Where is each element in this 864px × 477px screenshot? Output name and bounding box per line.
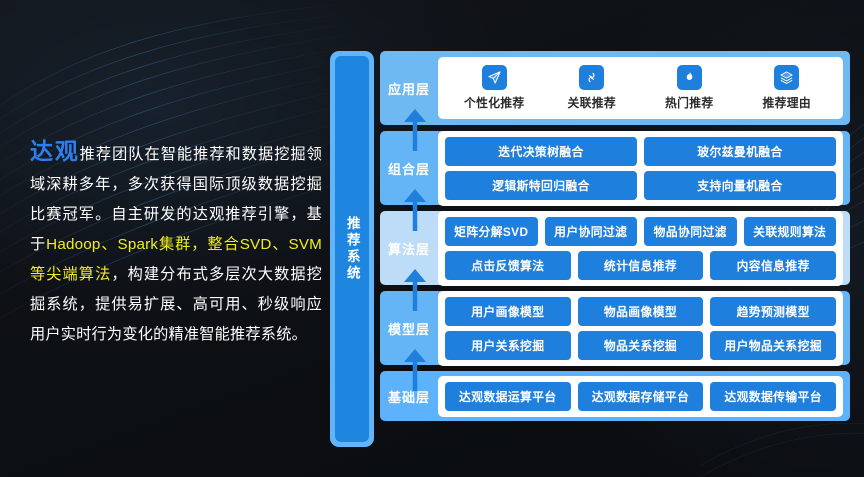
chip-item-cf[interactable]: 物品协同过滤 <box>644 217 737 246</box>
chip-user-item-relation-mining[interactable]: 用户物品关系挖掘 <box>710 331 836 360</box>
chip-svm-fusion[interactable]: 支持向量机融合 <box>644 171 836 200</box>
chip-row: 用户关系挖掘 物品关系挖掘 用户物品关系挖掘 <box>445 331 836 360</box>
layer-model-body: 用户画像模型 物品画像模型 趋势预测模型 用户关系挖掘 物品关系挖掘 用户物品关… <box>438 291 843 366</box>
chip-row: 矩阵分解SVD 用户协同过滤 物品协同过滤 关联规则算法 <box>445 217 836 246</box>
chip-row: 达观数据运算平台 达观数据存储平台 达观数据传输平台 <box>445 382 836 411</box>
chip-trend-prediction-model[interactable]: 趋势预测模型 <box>710 297 836 326</box>
app-item-hot-label: 热门推荐 <box>665 94 713 111</box>
chip-row: 逻辑斯特回归融合 支持向量机融合 <box>445 171 836 200</box>
app-item-reason-label: 推荐理由 <box>763 94 811 111</box>
layer-application-body: 个性化推荐 关联推荐 <box>438 57 843 119</box>
system-spine-label: 推荐系统 <box>345 216 359 282</box>
layer-combination[interactable]: 组合层 迭代决策树融合 玻尔兹曼机融合 逻辑斯特回归融合 支持向量机融合 <box>380 131 850 205</box>
link-icon <box>579 65 604 90</box>
layer-application[interactable]: 应用层 个性化推荐 <box>380 51 850 125</box>
chip-association-rules[interactable]: 关联规则算法 <box>744 217 837 246</box>
chip-content-rec[interactable]: 内容信息推荐 <box>710 251 836 280</box>
layer-stack: 应用层 个性化推荐 <box>380 51 850 447</box>
app-item-related-label: 关联推荐 <box>568 94 616 111</box>
recommendation-architecture-diagram: 推荐系统 应用层 个性化推荐 <box>330 51 850 447</box>
layer-foundation[interactable]: 基础层 达观数据运算平台 达观数据存储平台 达观数据传输平台 <box>380 371 850 421</box>
layer-model-title: 模型层 <box>380 319 438 338</box>
system-spine-bar: 推荐系统 <box>330 51 374 447</box>
company-description: 达观推荐团队在智能推荐和数据挖掘领域深耕多年，多次获得国际顶级数据挖掘比赛冠军。… <box>30 136 322 350</box>
chip-item-profile-model[interactable]: 物品画像模型 <box>578 297 704 326</box>
flame-icon <box>677 65 702 90</box>
app-item-personalized[interactable]: 个性化推荐 <box>448 65 541 111</box>
layer-model[interactable]: 模型层 用户画像模型 物品画像模型 趋势预测模型 用户关系挖掘 物品关系挖掘 用… <box>380 291 850 365</box>
chip-transfer-platform[interactable]: 达观数据传输平台 <box>710 382 836 411</box>
chip-row: 迭代决策树融合 玻尔兹曼机融合 <box>445 137 836 166</box>
layer-combination-body: 迭代决策树融合 玻尔兹曼机融合 逻辑斯特回归融合 支持向量机融合 <box>438 131 843 206</box>
chip-item-relation-mining[interactable]: 物品关系挖掘 <box>578 331 704 360</box>
chip-row: 点击反馈算法 统计信息推荐 内容信息推荐 <box>445 251 836 280</box>
layer-application-title: 应用层 <box>380 79 438 98</box>
chip-statistical-rec[interactable]: 统计信息推荐 <box>578 251 704 280</box>
layer-combination-title: 组合层 <box>380 159 438 178</box>
app-item-personalized-label: 个性化推荐 <box>464 94 525 111</box>
chip-matrix-svd[interactable]: 矩阵分解SVD <box>445 217 538 246</box>
chip-user-relation-mining[interactable]: 用户关系挖掘 <box>445 331 571 360</box>
slide-canvas: 达观推荐团队在智能推荐和数据挖掘领域深耕多年，多次获得国际顶级数据挖掘比赛冠军。… <box>0 0 864 477</box>
layer-algorithm[interactable]: 算法层 矩阵分解SVD 用户协同过滤 物品协同过滤 关联规则算法 点击反馈算法 … <box>380 211 850 285</box>
chip-compute-platform[interactable]: 达观数据运算平台 <box>445 382 571 411</box>
chip-click-feedback[interactable]: 点击反馈算法 <box>445 251 571 280</box>
layers-icon <box>774 65 799 90</box>
chip-gbdt-fusion[interactable]: 迭代决策树融合 <box>445 137 637 166</box>
intro-text-panel: 达观推荐团队在智能推荐和数据挖掘领域深耕多年，多次获得国际顶级数据挖掘比赛冠军。… <box>30 136 322 350</box>
app-item-related[interactable]: 关联推荐 <box>546 65 639 111</box>
layer-foundation-title: 基础层 <box>380 387 438 406</box>
layer-algorithm-title: 算法层 <box>380 239 438 258</box>
chip-user-cf[interactable]: 用户协同过滤 <box>545 217 638 246</box>
paper-plane-icon <box>482 65 507 90</box>
chip-boltzmann-fusion[interactable]: 玻尔兹曼机融合 <box>644 137 836 166</box>
layer-foundation-body: 达观数据运算平台 达观数据存储平台 达观数据传输平台 <box>438 376 843 417</box>
chip-row: 用户画像模型 物品画像模型 趋势预测模型 <box>445 297 836 326</box>
chip-logistic-fusion[interactable]: 逻辑斯特回归融合 <box>445 171 637 200</box>
app-item-reason[interactable]: 推荐理由 <box>741 65 834 111</box>
layer-algorithm-body: 矩阵分解SVD 用户协同过滤 物品协同过滤 关联规则算法 点击反馈算法 统计信息… <box>438 211 843 286</box>
chip-user-profile-model[interactable]: 用户画像模型 <box>445 297 571 326</box>
chip-storage-platform[interactable]: 达观数据存储平台 <box>578 382 704 411</box>
system-spine-inner: 推荐系统 <box>335 56 369 442</box>
brand-name: 达观 <box>30 138 80 164</box>
app-item-hot[interactable]: 热门推荐 <box>643 65 736 111</box>
